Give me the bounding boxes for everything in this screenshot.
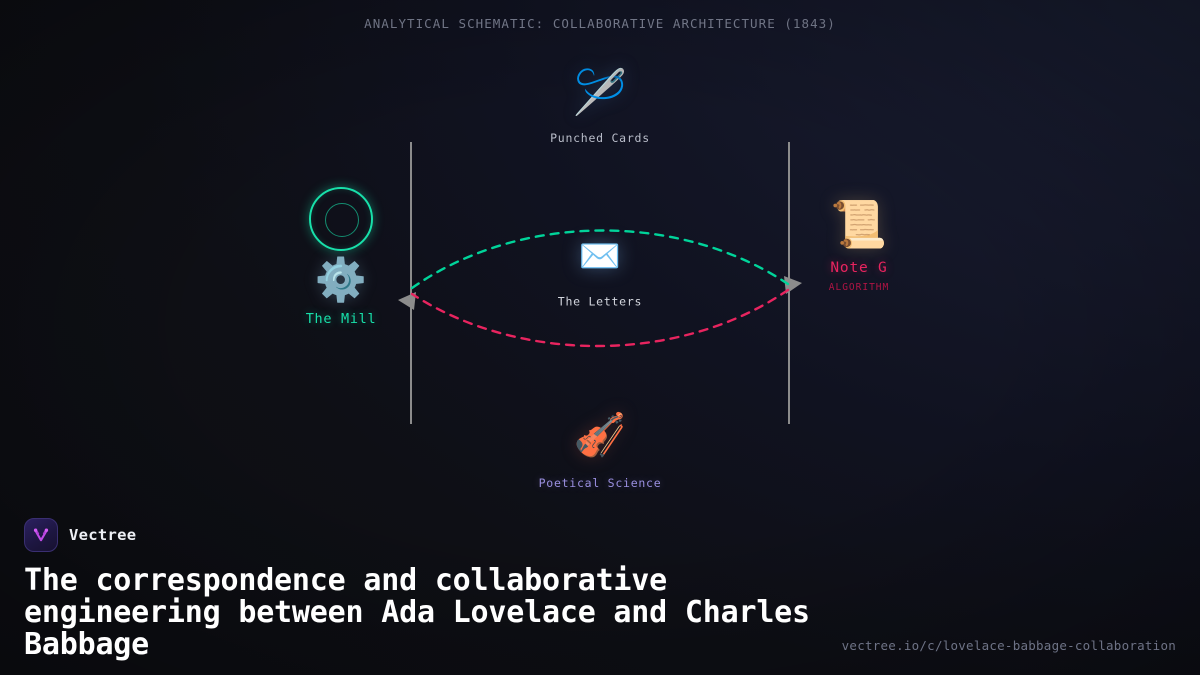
- vectree-mark-icon: [31, 525, 51, 545]
- node-label-note-g: Note G: [830, 260, 887, 276]
- violin-icon: 🎻: [574, 414, 626, 456]
- node-label-poetical-science: Poetical Science: [539, 476, 662, 490]
- headline: The correspondence and collaborative eng…: [24, 565, 824, 661]
- envelope-icon: ✉️: [579, 240, 621, 274]
- node-punched-cards[interactable]: 🪡 Punched Cards: [450, 71, 750, 145]
- node-the-letters[interactable]: ✉️ The Letters: [450, 240, 750, 309]
- brand-name: Vectree: [69, 526, 136, 544]
- schematic-title: ANALYTICAL SCHEMATIC: COLLABORATIVE ARCH…: [0, 16, 1200, 31]
- node-label-the-mill: The Mill: [306, 311, 377, 327]
- node-sublabel-algorithm: ALGORITHM: [829, 282, 889, 293]
- edge-mill-to-noteg: [412, 230, 788, 288]
- vectree-logo: [24, 518, 58, 552]
- node-label-the-letters: The Letters: [558, 295, 642, 309]
- sewing-needle-icon: 🪡: [573, 71, 628, 115]
- footer: Vectree The correspondence and collabora…: [0, 518, 1200, 675]
- node-the-mill[interactable]: ⚙️ The Mill: [231, 187, 451, 327]
- right-axis-arrowhead: [784, 276, 802, 294]
- footer-url: vectree.io/c/lovelace-babbage-collaborat…: [842, 638, 1176, 653]
- node-poetical-science[interactable]: 🎻 Poetical Science: [440, 414, 760, 490]
- left-axis-arrowhead: [398, 292, 416, 310]
- brand-row: Vectree: [24, 518, 1176, 552]
- node-label-punched-cards: Punched Cards: [550, 131, 650, 145]
- mill-ring-icon: [309, 187, 373, 251]
- node-note-g[interactable]: 📜 Note G ALGORITHM: [739, 201, 979, 293]
- gear-icon: ⚙️: [315, 259, 367, 301]
- edge-noteg-to-mill: [412, 290, 788, 346]
- scroll-icon: 📜: [830, 201, 887, 247]
